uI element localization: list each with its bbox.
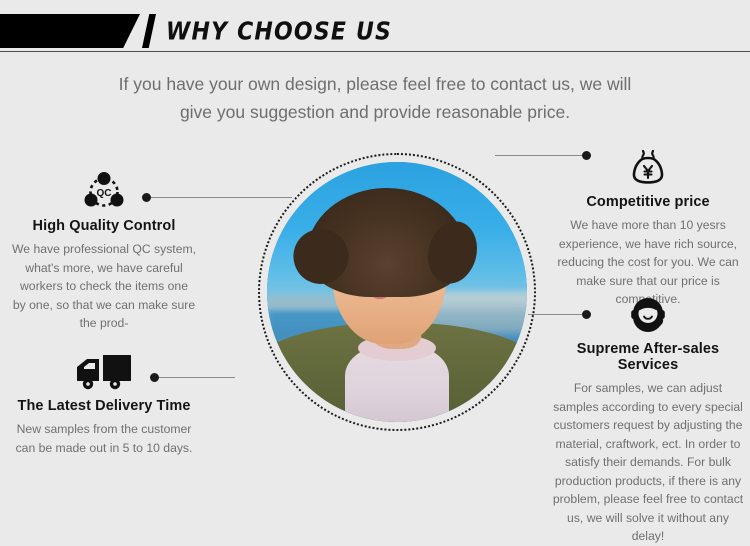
feature-body: We have professional QC system, what's m… <box>4 240 204 333</box>
center-photo <box>258 153 536 431</box>
intro-line-1: If you have your own design, please feel… <box>75 70 675 98</box>
intro-text: If you have your own design, please feel… <box>75 70 675 126</box>
feature-title: Competitive price <box>548 194 748 210</box>
why-choose-us-page: { "header": { "title": "WHY CHOOSE US" }… <box>0 0 750 533</box>
banner-black-bar <box>0 14 140 48</box>
feature-body: For samples, we can adjust samples accor… <box>548 379 748 546</box>
qc-circles-icon: QC <box>4 172 204 212</box>
feature-competitive-price: Competitive price We have more than 10 y… <box>548 148 748 309</box>
header-divider <box>0 51 750 52</box>
headset-support-icon <box>548 295 748 335</box>
svg-text:QC: QC <box>97 188 112 199</box>
feature-body: New samples from the customer can be mad… <box>4 420 204 457</box>
feature-title: Supreme After-sales Services <box>548 341 748 373</box>
delivery-truck-icon <box>4 352 204 392</box>
intro-line-2: give you suggestion and provide reasonab… <box>75 98 675 126</box>
banner-slash-decor <box>142 14 156 48</box>
money-bag-yen-icon <box>548 148 748 188</box>
feature-latest-delivery-time: The Latest Delivery Time New samples fro… <box>4 352 204 457</box>
page-title: WHY CHOOSE US <box>166 15 392 51</box>
photo-dotted-ring <box>258 153 536 431</box>
section-banner: WHY CHOOSE US <box>0 14 750 48</box>
feature-high-quality-control: QC High Quality Control We have professi… <box>4 172 204 333</box>
feature-title: High Quality Control <box>4 218 204 234</box>
feature-title: The Latest Delivery Time <box>4 398 204 414</box>
feature-supreme-after-sales-services: Supreme After-sales Services For samples… <box>548 295 748 546</box>
